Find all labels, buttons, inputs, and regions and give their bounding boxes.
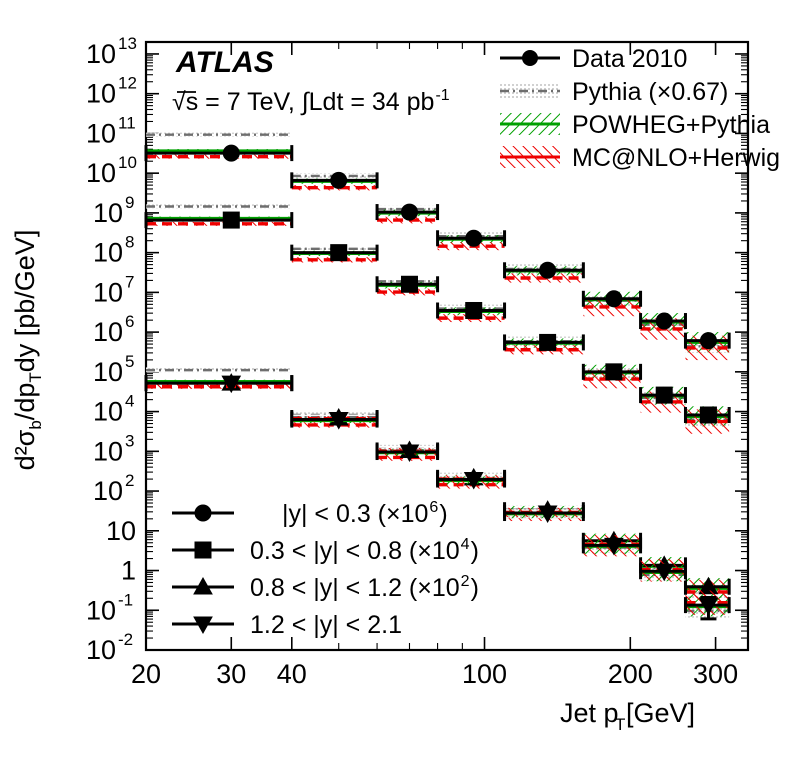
x-tick-label: 30 [216, 659, 246, 689]
x-tick-label: 40 [277, 659, 307, 689]
svg-text:d²σb/dpTdy [pb/GeV]: d²σb/dpTdy [pb/GeV] [10, 230, 45, 471]
x-axis-title: Jet pT [GeV] [560, 698, 695, 734]
svg-text:10: 10 [86, 595, 116, 625]
legend-item[interactable]: Pythia (×0.67) [500, 78, 728, 106]
y-tick-label: 1012 [86, 74, 137, 109]
plot-annotations: ATLAS√s = 7 TeV, ∫Ldt = 34 pb-1 [172, 46, 450, 116]
physics-cross-section-plot: 203040100200300 101310121011101010910810… [0, 0, 789, 757]
legend-scale-exponent: 4 [461, 536, 470, 553]
svg-text:10: 10 [118, 153, 137, 172]
svg-text:10: 10 [106, 516, 136, 546]
legend-rapidity-label: 0.8 < |y| < 1.2 (×10 [250, 574, 460, 602]
x-tick-label: 300 [693, 659, 738, 689]
svg-text:√s = 7 TeV, ∫Ldt = 34 pb: √s = 7 TeV, ∫Ldt = 34 pb [172, 88, 434, 116]
svg-text:2: 2 [125, 471, 134, 490]
legend-bottom: |y| < 0.3 (×106)0.3 < |y| < 0.8 (×104)0.… [172, 499, 479, 639]
data-marker-square [656, 387, 672, 403]
svg-text:10: 10 [86, 635, 116, 665]
legend-scale-paren: ) [471, 537, 479, 565]
legend-scale-paren: ) [471, 574, 479, 602]
legend-label: Pythia (×0.67) [572, 78, 728, 106]
svg-text:7: 7 [125, 272, 134, 291]
luminosity-label: √s = 7 TeV, ∫Ldt = 34 pb-1 [172, 87, 450, 116]
data-marker-square [331, 245, 347, 261]
legend-scale-exponent: 6 [429, 499, 438, 516]
svg-text:10: 10 [93, 357, 123, 387]
y-axis-title: d²σb/dpTdy [pb/GeV] [10, 230, 45, 471]
legend-marker-circle [522, 50, 538, 66]
data-marker-circle [606, 291, 622, 307]
y-tick-label: 1011 [86, 113, 136, 148]
svg-text:10: 10 [86, 79, 116, 109]
legend-item[interactable]: MC@NLO+Herwig [500, 144, 780, 172]
data-marker-circle [540, 262, 556, 278]
legend-rapidity-label: 1.2 < |y| < 2.1 [250, 611, 402, 639]
svg-text:-2: -2 [118, 630, 133, 649]
svg-text:10: 10 [93, 198, 123, 228]
svg-text:3: 3 [125, 431, 134, 450]
svg-text:10: 10 [86, 39, 116, 69]
data-marker-circle [656, 313, 672, 329]
svg-text:-1: -1 [435, 87, 449, 104]
y-tick-label: 105 [93, 352, 135, 387]
data-marker-square [195, 542, 211, 558]
legend-scale-exponent: 2 [461, 573, 470, 590]
x-axis-tick-labels: 203040100200300 [131, 659, 738, 689]
svg-text:6: 6 [125, 312, 134, 331]
svg-text:1: 1 [121, 556, 136, 586]
y-tick-label: 104 [93, 392, 135, 427]
y-tick-label: 103 [93, 431, 135, 466]
y-tick-label: 107 [93, 272, 135, 307]
data-marker-circle [700, 333, 716, 349]
legend-rapidity-item[interactable]: 1.2 < |y| < 2.1 [172, 611, 402, 639]
y-tick-label: 1010 [86, 153, 137, 188]
legend-rapidity-label: 0.3 < |y| < 0.8 (×10 [250, 537, 460, 565]
data-marker-circle [331, 172, 347, 188]
svg-text:10: 10 [93, 397, 123, 427]
svg-text:10: 10 [93, 436, 123, 466]
data-marker-square [700, 407, 716, 423]
svg-text:8: 8 [125, 233, 134, 252]
y-tick-label: 106 [93, 312, 135, 347]
svg-text:10: 10 [86, 118, 116, 148]
legend-rapidity-item[interactable]: |y| < 0.3 (×106) [172, 499, 448, 528]
y-axis-tick-labels: 1013101210111010109108107106105104103102… [86, 34, 137, 665]
data-marker-square [606, 364, 622, 380]
svg-text:9: 9 [125, 193, 134, 212]
svg-text:4: 4 [125, 392, 134, 411]
atlas-label: ATLAS [175, 46, 274, 79]
y-tick-label: 1 [121, 556, 136, 586]
svg-text:10: 10 [86, 158, 116, 188]
svg-text:11: 11 [118, 113, 136, 132]
svg-text:10: 10 [93, 476, 123, 506]
svg-text:10: 10 [93, 238, 123, 268]
svg-text:10: 10 [93, 317, 123, 347]
data-marker-circle [466, 230, 482, 246]
svg-text:-1: -1 [118, 590, 133, 609]
plot-canvas: 203040100200300 101310121011101010910810… [0, 0, 789, 757]
y-tick-label: 10-2 [86, 630, 133, 665]
y-tick-label: 1013 [86, 34, 137, 69]
y-tick-label: 109 [93, 193, 135, 228]
legend-scale-paren: ) [439, 500, 447, 528]
svg-text:13: 13 [118, 34, 137, 53]
x-tick-label: 20 [131, 659, 161, 689]
data-marker-square [401, 276, 417, 292]
y-tick-label: 10 [106, 516, 136, 546]
data-marker-circle [401, 204, 417, 220]
legend-item[interactable]: POWHEG+Pythia [500, 111, 770, 139]
legend-label: MC@NLO+Herwig [572, 144, 780, 172]
svg-text:Jet p: Jet p [560, 698, 619, 728]
svg-text:[GeV]: [GeV] [626, 698, 695, 728]
y-tick-label: 102 [93, 471, 135, 506]
legend-label: POWHEG+Pythia [572, 111, 770, 139]
legend-rapidity-item[interactable]: 0.3 < |y| < 0.8 (×104) [172, 536, 479, 565]
x-tick-label: 100 [462, 659, 507, 689]
x-tick-label: 200 [608, 659, 653, 689]
legend-rapidity-item[interactable]: 0.8 < |y| < 1.2 (×102) [172, 573, 479, 602]
legend-top: Data 2010Pythia (×0.67)POWHEG+PythiaMC@N… [500, 45, 780, 172]
legend-rapidity-label: |y| < 0.3 (×10 [282, 500, 428, 528]
data-marker-circle [223, 145, 239, 161]
data-marker-circle [195, 505, 211, 521]
data-marker-square [540, 334, 556, 350]
svg-text:12: 12 [118, 74, 137, 93]
y-tick-label: 10-1 [86, 590, 133, 625]
data-marker-square [223, 212, 239, 228]
data-marker-square [466, 302, 482, 318]
legend-item[interactable]: Data 2010 [500, 45, 687, 73]
y-tick-label: 108 [93, 233, 135, 268]
legend-label: Data 2010 [572, 45, 687, 73]
svg-text:T: T [615, 715, 625, 734]
svg-text:5: 5 [125, 352, 134, 371]
svg-text:10: 10 [93, 277, 123, 307]
